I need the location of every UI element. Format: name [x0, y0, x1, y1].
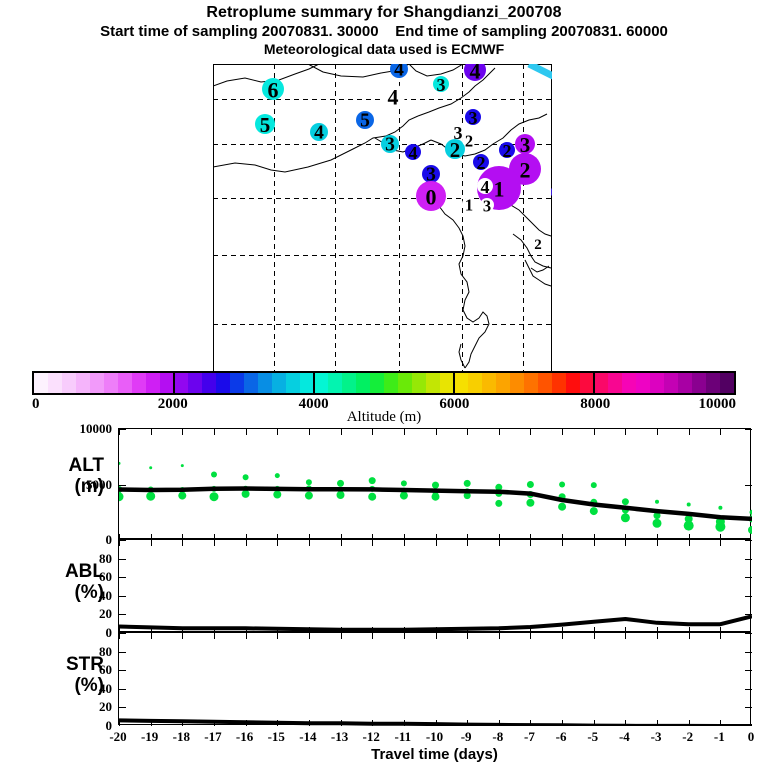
map-marker-label: 2 — [477, 153, 486, 173]
alt-data-point — [337, 491, 345, 499]
alt-data-point — [464, 480, 471, 487]
x-axis-tick-label: -8 — [481, 729, 515, 745]
alt-data-point — [181, 464, 184, 467]
map-marker-label: 5 — [260, 113, 271, 137]
alt-data-point — [655, 500, 659, 504]
map-marker-label: 3 — [483, 197, 491, 216]
map-canvas: 6545434434332222323104132 — [213, 64, 552, 372]
alt-y-tick-label: 10000 — [52, 421, 112, 437]
alt-data-point — [400, 492, 408, 500]
x-axis-title: Travel time (days) — [118, 746, 751, 763]
alt-plot — [119, 429, 752, 540]
x-axis-tick-label: -11 — [386, 729, 420, 745]
start-time-label: Start time of sampling 20070831. 30000 — [100, 23, 378, 40]
alt-data-point — [622, 498, 629, 505]
map-marker-label: 1 — [494, 177, 505, 202]
alt-data-point — [715, 522, 725, 532]
x-axis-tick-label: -5 — [576, 729, 610, 745]
map-marker-label: 1 — [465, 196, 473, 215]
alt-data-point — [337, 480, 344, 487]
abl-y-tick-label: 60 — [52, 569, 112, 585]
colorbar-title: Altitude (m) — [0, 409, 768, 426]
altitude-colorbar — [32, 371, 736, 395]
map-marker-label: 0 — [426, 185, 437, 210]
alt-data-point — [687, 503, 691, 507]
str-y-tick-label: 40 — [52, 681, 112, 697]
met-data-label: Meteorological data used is ECMWF — [0, 41, 768, 58]
alt-data-point — [591, 482, 597, 488]
alt-data-point — [243, 474, 249, 480]
abl-y-tick-label: 40 — [52, 588, 112, 604]
x-axis-tick-label: -9 — [449, 729, 483, 745]
x-axis-tick-label: -17 — [196, 729, 230, 745]
str-plot — [119, 633, 752, 726]
abl-y-tick-label: 80 — [52, 551, 112, 567]
alt-data-point — [495, 500, 502, 507]
trajectory-lower — [551, 142, 552, 192]
alt-data-point — [210, 492, 219, 501]
alt-data-point — [119, 492, 124, 501]
alt-data-point — [653, 519, 662, 528]
x-axis-tick-label: -3 — [639, 729, 673, 745]
figure-header: Retroplume summary for Shangdianzi_20070… — [0, 0, 768, 58]
alt-data-point — [432, 493, 440, 501]
map-gridlines — [213, 64, 552, 372]
alt-data-point — [432, 482, 439, 489]
trajectory-upper — [529, 64, 552, 142]
x-axis-tick-label: -7 — [512, 729, 546, 745]
str-y-tick-label: 80 — [52, 644, 112, 660]
alt-data-point — [211, 472, 217, 478]
alt-data-point — [368, 493, 376, 501]
map-marker-label: 2 — [465, 132, 473, 151]
coastline — [513, 234, 551, 268]
x-axis-tick-label: 0 — [734, 729, 768, 745]
map-marker-label: 4 — [388, 85, 399, 110]
map-coastlines — [213, 64, 551, 368]
str-y-tick-label: 60 — [52, 662, 112, 678]
retroplume-map: 6545434434332222323104132 — [213, 64, 552, 372]
map-marker-label: 4 — [409, 143, 418, 163]
alt-data-point — [178, 492, 186, 500]
colorbar-border — [32, 371, 736, 395]
map-marker-label: 4 — [314, 123, 324, 144]
alt-data-point — [526, 499, 534, 507]
x-axis-tick-label: -13 — [323, 729, 357, 745]
map-marker-label: 5 — [360, 111, 370, 132]
alt-data-point — [149, 466, 152, 469]
x-axis-tick-label: -19 — [133, 729, 167, 745]
alt-y-tick-label: 0 — [52, 532, 112, 548]
alt-data-point — [119, 462, 121, 465]
end-time-label: End time of sampling 20070831. 60000 — [395, 23, 668, 40]
map-marker-label: 2 — [450, 138, 461, 162]
x-axis-tick-label: -18 — [164, 729, 198, 745]
x-axis-tick-label: -16 — [228, 729, 262, 745]
x-axis-tick-label: -15 — [259, 729, 293, 745]
str-panel — [118, 632, 751, 725]
map-marker-label: 4 — [481, 177, 490, 197]
x-axis-tick-label: -12 — [354, 729, 388, 745]
x-axis-tick-label: -14 — [291, 729, 325, 745]
abl-panel — [118, 539, 751, 632]
abl-y-tick-label: 20 — [52, 606, 112, 622]
alt-data-point — [146, 492, 155, 501]
alt-data-point — [527, 481, 534, 488]
x-axis-tick-label: -1 — [702, 729, 736, 745]
alt-data-point — [242, 490, 250, 498]
map-marker-label: 6 — [268, 78, 279, 103]
alt-data-point — [306, 479, 312, 485]
map-marker-label: 3 — [437, 75, 446, 95]
coastline — [423, 192, 489, 368]
map-marker-label: 3 — [469, 108, 478, 128]
map-marker-label: 2 — [534, 237, 542, 253]
abl-y-tick-label: 0 — [52, 625, 112, 641]
alt-y-tick-label: 5000 — [52, 477, 112, 493]
alt-data-point — [684, 521, 694, 531]
str-y-tick-label: 20 — [52, 699, 112, 715]
alt-data-point — [748, 526, 752, 534]
sampling-time-row: Start time of sampling 20070831. 30000 E… — [0, 22, 768, 41]
alt-data-point — [273, 491, 281, 499]
alt-label-line1: ALT — [8, 455, 104, 476]
alt-data-point — [558, 503, 566, 511]
alt-data-point — [718, 506, 722, 510]
page-title: Retroplume summary for Shangdianzi_20070… — [0, 3, 768, 22]
alt-data-point — [401, 480, 407, 486]
alt-data-point — [305, 492, 313, 500]
alt-data-point — [590, 507, 598, 515]
map-marker-label: 2 — [520, 158, 531, 183]
x-axis-tick-label: -10 — [418, 729, 452, 745]
x-axis-tick-label: -6 — [544, 729, 578, 745]
map-marker-label: 3 — [385, 135, 395, 156]
x-axis-tick-label: -4 — [607, 729, 641, 745]
x-axis-tick-label: -2 — [671, 729, 705, 745]
alt-data-point — [275, 473, 280, 478]
alt-panel — [118, 428, 751, 539]
alt-data-point — [559, 482, 565, 488]
x-axis-tick-label: -20 — [101, 729, 135, 745]
map-marker-label: 2 — [503, 141, 512, 161]
alt-data-point — [750, 510, 753, 515]
abl-plot — [119, 540, 752, 633]
map-marker-label: 4 — [394, 64, 404, 81]
map-marker-label: 4 — [470, 64, 481, 84]
alt-data-point — [621, 513, 630, 522]
alt-data-point — [369, 477, 376, 484]
